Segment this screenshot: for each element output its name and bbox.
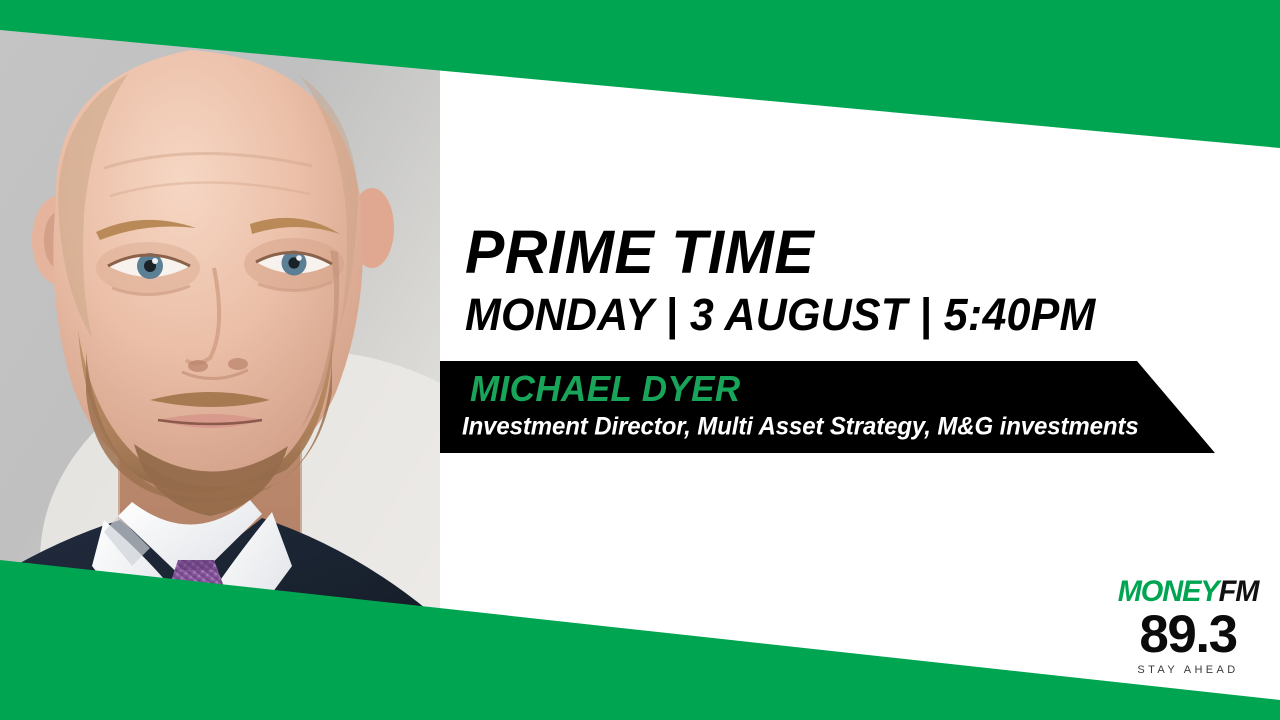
show-title: PRIME TIME	[465, 222, 1265, 283]
show-title-block: PRIME TIME MONDAY | 3 AUGUST | 5:40PM	[465, 222, 1265, 336]
show-schedule: MONDAY | 3 AUGUST | 5:40PM	[465, 293, 1265, 339]
station-logo: MONEYFM 89.3 STAY AHEAD	[1114, 578, 1262, 676]
guest-role: Investment Director, Multi Asset Strateg…	[462, 413, 1139, 442]
station-frequency: 89.3	[1114, 609, 1262, 661]
station-wordmark: MONEYFM	[1114, 578, 1262, 608]
guest-name: MICHAEL DYER	[470, 369, 741, 411]
station-tagline: STAY AHEAD	[1114, 664, 1262, 676]
guest-name-banner: MICHAEL DYER Investment Director, Multi …	[440, 361, 1220, 453]
logo-fm-text: FM	[1219, 576, 1259, 609]
promo-graphic: PRIME TIME MONDAY | 3 AUGUST | 5:40PM MI…	[0, 0, 1280, 720]
logo-money-text: MONEY	[1118, 576, 1219, 609]
